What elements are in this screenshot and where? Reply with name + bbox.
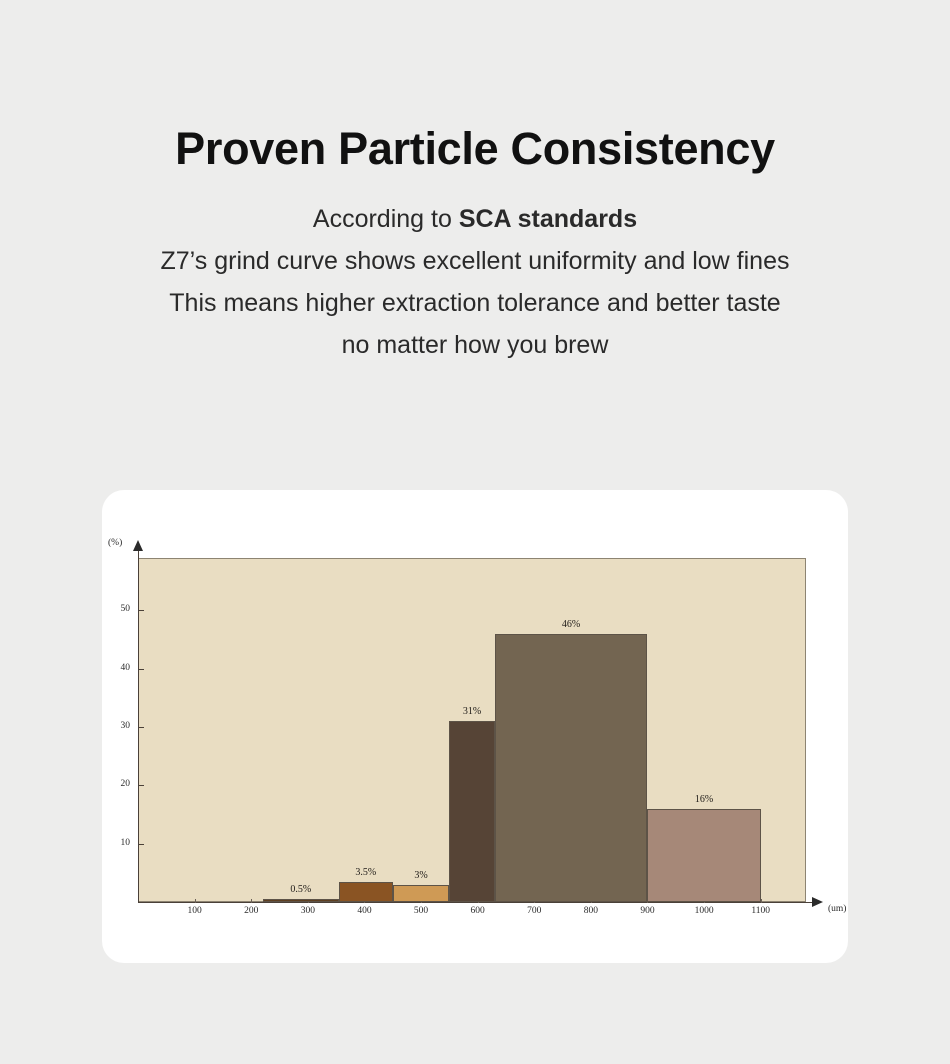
x-axis-arrow-icon	[812, 897, 823, 907]
chart-bar	[393, 885, 450, 902]
y-tick-mark	[138, 785, 144, 786]
x-tick-label: 100	[175, 906, 215, 916]
chart-bar	[647, 809, 760, 902]
y-tick-label: 40	[104, 663, 130, 673]
y-tick-mark	[138, 727, 144, 728]
subtitle-line-4: no matter how you brew	[0, 324, 950, 366]
bar-value-label: 0.5%	[271, 884, 331, 895]
y-axis-unit-label: (%)	[108, 538, 122, 548]
chart-bar	[495, 634, 648, 902]
x-tick-label: 1100	[741, 906, 781, 916]
x-axis-line	[138, 902, 814, 903]
x-tick-label: 200	[231, 906, 271, 916]
x-tick-label: 800	[571, 906, 611, 916]
particle-distribution-chart: (%) (um) 1020304050 10020030040050060070…	[102, 490, 848, 963]
subtitle-line-1: According to SCA standards	[0, 198, 950, 240]
x-tick-label: 1000	[684, 906, 724, 916]
chart-card: (%) (um) 1020304050 10020030040050060070…	[102, 490, 848, 963]
y-tick-label: 50	[104, 604, 130, 614]
y-tick-label: 10	[104, 838, 130, 848]
x-tick-label: 400	[344, 906, 384, 916]
x-tick-label: 700	[514, 906, 554, 916]
bar-value-label: 16%	[674, 794, 734, 805]
y-tick-mark	[138, 844, 144, 845]
bar-value-label: 3.5%	[336, 867, 396, 878]
subtitle-block: According to SCA standards Z7’s grind cu…	[0, 198, 950, 366]
y-tick-mark	[138, 610, 144, 611]
y-tick-label: 30	[104, 721, 130, 731]
y-tick-label: 20	[104, 779, 130, 789]
subtitle-line-1-emphasis: SCA standards	[459, 205, 637, 233]
x-tick-label: 300	[288, 906, 328, 916]
x-tick-mark	[761, 899, 762, 903]
subtitle-line-3: This means higher extraction tolerance a…	[0, 282, 950, 324]
chart-bar	[339, 882, 393, 902]
page-title: Proven Particle Consistency	[0, 124, 950, 174]
bar-value-label: 31%	[442, 706, 502, 717]
subtitle-line-2: Z7’s grind curve shows excellent uniform…	[0, 240, 950, 282]
subtitle-line-1-prefix: According to	[313, 205, 459, 233]
x-axis-unit-label: (um)	[828, 904, 846, 914]
y-axis-line	[138, 548, 139, 903]
bar-value-label: 46%	[541, 619, 601, 630]
bar-value-label: 3%	[391, 870, 451, 881]
x-tick-label: 500	[401, 906, 441, 916]
chart-bar	[449, 721, 494, 902]
x-tick-label: 900	[627, 906, 667, 916]
x-tick-mark	[195, 899, 196, 903]
y-axis-arrow-icon	[133, 540, 143, 551]
chart-bar	[263, 899, 339, 902]
y-tick-mark	[138, 669, 144, 670]
x-tick-label: 600	[458, 906, 498, 916]
x-tick-mark	[251, 899, 252, 903]
